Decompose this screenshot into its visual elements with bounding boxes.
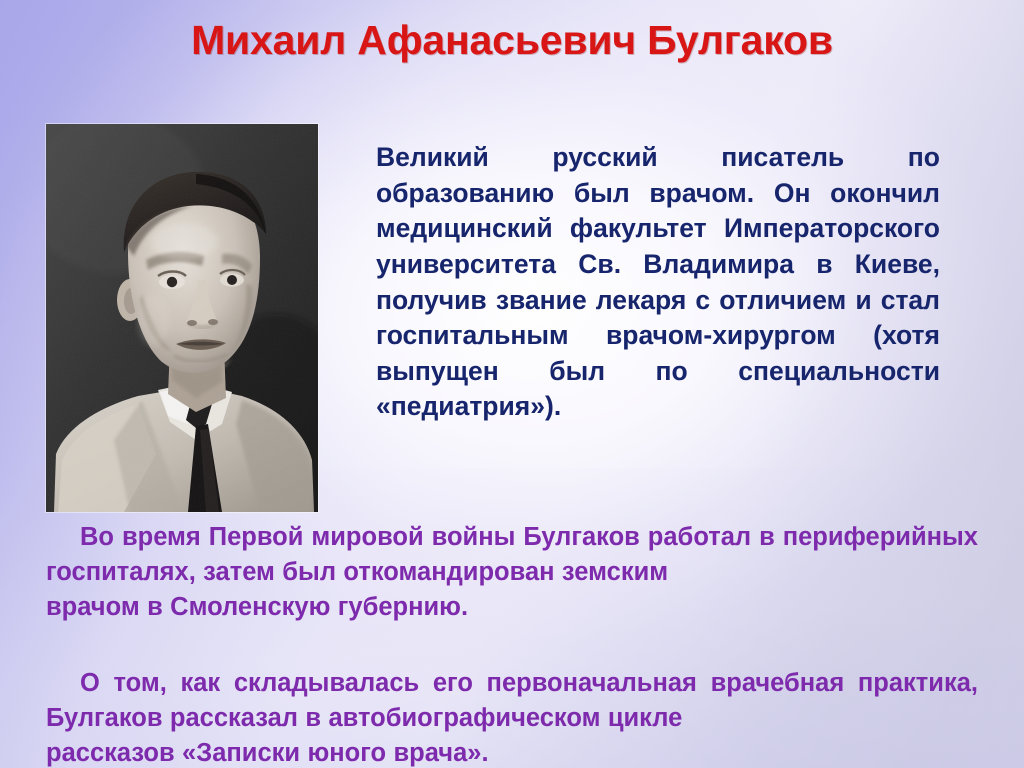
paragraph-wartime-head: Во время Первой мировой войны Булгаков р…: [46, 523, 978, 586]
paragraph-wartime: Во время Первой мировой войны Булгаков р…: [46, 520, 978, 660]
paragraph-practice-head: О том, как складывалась его первоначальн…: [46, 669, 978, 732]
paragraph-wartime-tail: врачом в Смоленскую губернию.: [46, 590, 978, 625]
intro-text-block: Великий русский писатель по образованию …: [376, 140, 940, 461]
slide-title-bar: Михаил Афанасьевич Булгаков: [0, 18, 1024, 62]
paragraph-practice: О том, как складывалась его первоначальн…: [46, 666, 978, 768]
paragraph-practice-tail: рассказов «Записки юного врача».: [46, 736, 978, 768]
intro-paragraph: Великий русский писатель по образованию …: [376, 140, 940, 461]
page-title: Михаил Афанасьевич Булгаков: [191, 18, 833, 62]
portrait-image: [46, 124, 318, 512]
presentation-slide: Михаил Афанасьевич Булгаков: [0, 0, 1024, 768]
portrait-photo: [46, 124, 318, 512]
lower-text-block: Во время Первой мировой войны Булгаков р…: [46, 520, 978, 768]
